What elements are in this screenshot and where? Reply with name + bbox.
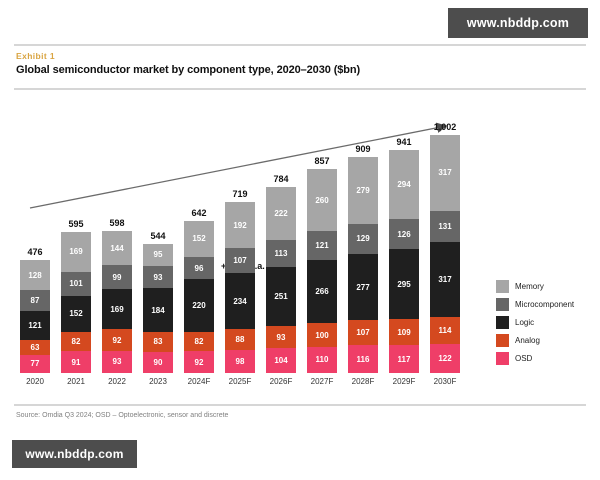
legend-label: Memory	[515, 282, 544, 291]
x-axis-tick-label: 2026F	[266, 377, 296, 395]
bar-segment-microcomponent[interactable]: 107	[225, 248, 255, 273]
bar-series-container: 4761288712163775951691011528291598144991…	[14, 113, 484, 373]
bar-segment-analog[interactable]: 92	[102, 329, 132, 351]
legend-item-analog[interactable]: Analog	[496, 334, 574, 347]
bar-column[interactable]: 476128871216377	[20, 247, 50, 373]
bar-total-label: 941	[396, 137, 411, 147]
bar-stack: 1691011528291	[61, 232, 91, 373]
bar-segment-analog[interactable]: 82	[184, 332, 214, 351]
legend-swatch-icon	[496, 334, 509, 347]
bar-column[interactable]: 5951691011528291	[61, 219, 91, 373]
bar-segment-logic[interactable]: 169	[102, 289, 132, 329]
legend-swatch-icon	[496, 316, 509, 329]
chart-plot-area: +7.7% p.a. 47612887121637759516910115282…	[14, 100, 484, 395]
bar-total-label: 909	[355, 144, 370, 154]
bar-segment-osd[interactable]: 117	[389, 345, 419, 373]
bar-column[interactable]: 598144991699293	[102, 218, 132, 373]
bar-segment-osd[interactable]: 98	[225, 350, 255, 373]
legend-item-microcomponent[interactable]: Microcomponent	[496, 298, 574, 311]
bar-total-label: 1,002	[434, 122, 457, 132]
legend-label: OSD	[515, 354, 532, 363]
bar-total-label: 719	[232, 189, 247, 199]
bar-segment-analog[interactable]: 93	[266, 326, 296, 348]
bar-segment-microcomponent[interactable]: 96	[184, 257, 214, 280]
bar-segment-analog[interactable]: 100	[307, 323, 337, 347]
bar-segment-analog[interactable]: 88	[225, 329, 255, 350]
bar-segment-memory[interactable]: 192	[225, 202, 255, 248]
bar-segment-analog[interactable]: 109	[389, 319, 419, 345]
divider-top	[14, 44, 586, 46]
bar-segment-osd[interactable]: 93	[102, 351, 132, 373]
legend-label: Logic	[515, 318, 534, 327]
legend-item-logic[interactable]: Logic	[496, 316, 574, 329]
bar-segment-memory[interactable]: 169	[61, 232, 91, 272]
watermark-bottom-label: www.nbddp.com	[25, 447, 123, 461]
bar-segment-microcomponent[interactable]: 101	[61, 272, 91, 296]
bar-stack: 279129277107116	[348, 157, 378, 373]
watermark-top: www.nbddp.com	[448, 8, 588, 38]
x-axis-tick-label: 2027F	[307, 377, 337, 395]
bar-column[interactable]: 941294126295109117	[389, 137, 419, 373]
bar-column[interactable]: 642152962208292	[184, 208, 214, 373]
bar-stack: 317131317114122	[430, 135, 460, 373]
bar-segment-osd[interactable]: 90	[143, 352, 173, 373]
bar-column[interactable]: 1,002317131317114122	[430, 122, 460, 373]
x-axis-tick-label: 2023	[143, 377, 173, 395]
bar-segment-analog[interactable]: 63	[20, 340, 50, 355]
bar-stack: 95931848390	[143, 244, 173, 373]
bar-segment-memory[interactable]: 260	[307, 169, 337, 231]
bar-column[interactable]: 857260121266100110	[307, 156, 337, 373]
bar-segment-analog[interactable]: 114	[430, 317, 460, 344]
legend-swatch-icon	[496, 280, 509, 293]
bar-segment-analog[interactable]: 107	[348, 320, 378, 345]
bar-segment-osd[interactable]: 122	[430, 344, 460, 373]
bar-stack: 260121266100110	[307, 169, 337, 373]
bar-segment-logic[interactable]: 251	[266, 267, 296, 327]
bar-segment-memory[interactable]: 128	[20, 260, 50, 290]
exhibit-kicker: Exhibit 1	[16, 51, 55, 61]
bar-segment-osd[interactable]: 77	[20, 355, 50, 373]
bar-segment-logic[interactable]: 121	[20, 311, 50, 340]
x-axis-tick-label: 2020	[20, 377, 50, 395]
bar-segment-microcomponent[interactable]: 113	[266, 240, 296, 267]
chart-legend: MemoryMicrocomponentLogicAnalogOSD	[496, 280, 574, 365]
bar-stack: 144991699293	[102, 231, 132, 373]
bar-segment-memory[interactable]: 95	[143, 244, 173, 267]
bar-segment-logic[interactable]: 234	[225, 273, 255, 329]
bar-segment-logic[interactable]: 220	[184, 279, 214, 331]
bar-column[interactable]: 78422211325193104	[266, 174, 296, 373]
bar-stack: 294126295109117	[389, 150, 419, 373]
legend-label: Microcomponent	[515, 300, 574, 309]
bar-total-label: 595	[68, 219, 83, 229]
bar-total-label: 476	[27, 247, 42, 257]
legend-label: Analog	[515, 336, 540, 345]
bar-total-label: 857	[314, 156, 329, 166]
bar-segment-analog[interactable]: 82	[61, 332, 91, 351]
bar-segment-osd[interactable]: 104	[266, 348, 296, 373]
source-note: Source: Omdia Q3 2024; OSD – Optoelectro…	[16, 412, 228, 419]
watermark-bottom: www.nbddp.com	[12, 440, 137, 468]
bar-segment-memory[interactable]: 144	[102, 231, 132, 265]
bar-column[interactable]: 7191921072348898	[225, 189, 255, 373]
bar-column[interactable]: 54495931848390	[143, 231, 173, 373]
bar-segment-logic[interactable]: 317	[430, 242, 460, 317]
bar-stack: 128871216377	[20, 260, 50, 373]
bar-segment-logic[interactable]: 184	[143, 288, 173, 332]
bar-stack: 22211325193104	[266, 187, 296, 373]
bar-segment-memory[interactable]: 222	[266, 187, 296, 240]
bar-segment-osd[interactable]: 92	[184, 351, 214, 373]
bar-segment-microcomponent[interactable]: 126	[389, 219, 419, 249]
x-axis-tick-label: 2030F	[430, 377, 460, 395]
x-axis-tick-label: 2022	[102, 377, 132, 395]
bar-segment-analog[interactable]: 83	[143, 332, 173, 352]
x-axis-tick-label: 2028F	[348, 377, 378, 395]
x-axis-labels: 20202021202220232024F2025F2026F2027F2028…	[14, 377, 484, 395]
bar-segment-logic[interactable]: 152	[61, 296, 91, 332]
bar-segment-microcomponent[interactable]: 99	[102, 265, 132, 289]
bar-stack: 1921072348898	[225, 202, 255, 373]
bar-segment-microcomponent[interactable]: 129	[348, 224, 378, 255]
bar-segment-microcomponent[interactable]: 87	[20, 290, 50, 311]
bar-segment-microcomponent[interactable]: 131	[430, 211, 460, 242]
x-axis-tick-label: 2029F	[389, 377, 419, 395]
bar-segment-microcomponent[interactable]: 121	[307, 231, 337, 260]
bar-total-label: 784	[273, 174, 288, 184]
legend-swatch-icon	[496, 298, 509, 311]
bar-segment-memory[interactable]: 317	[430, 135, 460, 210]
x-axis-tick-label: 2024F	[184, 377, 214, 395]
legend-item-osd[interactable]: OSD	[496, 352, 574, 365]
bar-segment-logic[interactable]: 266	[307, 260, 337, 323]
bar-column[interactable]: 909279129277107116	[348, 144, 378, 373]
bar-segment-logic[interactable]: 277	[348, 254, 378, 320]
bar-total-label: 544	[150, 231, 165, 241]
legend-swatch-icon	[496, 352, 509, 365]
bar-total-label: 598	[109, 218, 124, 228]
bar-segment-osd[interactable]: 91	[61, 351, 91, 373]
x-axis-tick-label: 2021	[61, 377, 91, 395]
watermark-top-label: www.nbddp.com	[467, 16, 569, 30]
bar-segment-memory[interactable]: 279	[348, 157, 378, 223]
bar-segment-memory[interactable]: 294	[389, 150, 419, 220]
bar-segment-osd[interactable]: 110	[307, 347, 337, 373]
bar-segment-osd[interactable]: 116	[348, 345, 378, 373]
bar-segment-memory[interactable]: 152	[184, 221, 214, 257]
divider-footer	[14, 404, 586, 406]
x-axis-tick-label: 2025F	[225, 377, 255, 395]
bar-stack: 152962208292	[184, 221, 214, 373]
bar-segment-logic[interactable]: 295	[389, 249, 419, 319]
page-title: Global semiconductor market by component…	[16, 64, 360, 76]
bar-segment-microcomponent[interactable]: 93	[143, 266, 173, 288]
divider-under-title	[14, 88, 586, 90]
bar-total-label: 642	[191, 208, 206, 218]
legend-item-memory[interactable]: Memory	[496, 280, 574, 293]
